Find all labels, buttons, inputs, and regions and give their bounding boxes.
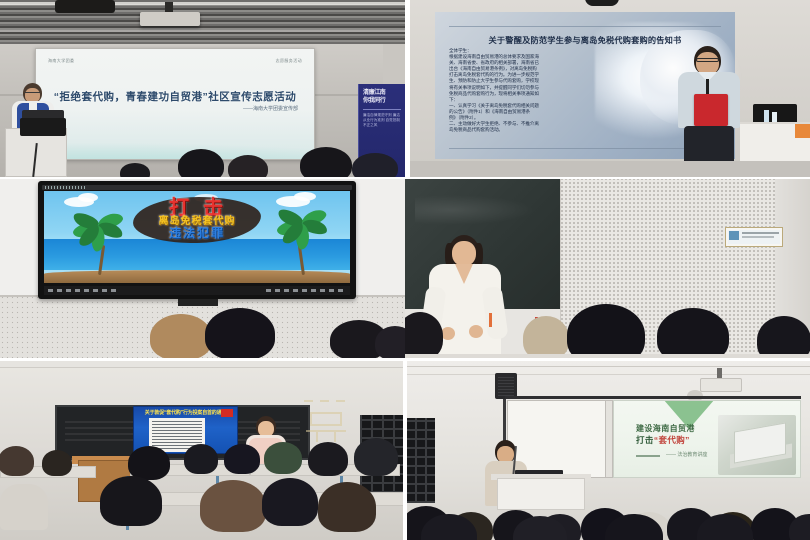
projector-icon bbox=[700, 378, 742, 392]
photo-bottom-right: 建设海南自贸港 打击“套代购” —— 法治教育讲座 bbox=[405, 360, 810, 540]
photo-collage: 海南大学团委 志愿服务活动 “拒绝套代购，青春建功自贸港”社区宣传志愿活动 ——… bbox=[0, 0, 810, 540]
banner-subtitle: 你我同行 bbox=[363, 98, 402, 105]
projection-screen: 建设海南自贸港 打击“套代购” —— 法治教育讲座 bbox=[613, 400, 801, 478]
ceiling-camera-icon bbox=[585, 0, 619, 6]
poster-line-3: 违法犯罪 bbox=[44, 227, 350, 240]
slide-line-2: 打击“套代购” bbox=[636, 434, 690, 446]
marker-pen bbox=[489, 313, 492, 327]
photo-top-right: 关于警醒及防范学生参与离岛免税代购套购的告知书 全体学生： 根据建设海南自由贸易… bbox=[410, 0, 810, 177]
large-display: 打击 离岛免税套代购 违法犯罪 bbox=[38, 181, 356, 299]
male-presenter bbox=[672, 46, 750, 177]
ceiling-fixture bbox=[55, 0, 115, 13]
audience bbox=[405, 478, 810, 540]
photo-top-left: 海南大学团委 志愿服务活动 “拒绝套代购，青春建功自贸港”社区宣传志愿活动 ——… bbox=[0, 0, 405, 177]
display-screen: 打击 离岛免税套代购 违法犯罪 bbox=[44, 191, 350, 283]
photo-middle-left: 打击 离岛免税套代购 违法犯罪 bbox=[0, 177, 405, 360]
collage-seam-vertical bbox=[405, 0, 410, 177]
photo-middle-right bbox=[405, 177, 810, 360]
projector-icon bbox=[140, 12, 200, 26]
notice-line: 岛免税商品代购套购活动。 bbox=[449, 127, 624, 133]
display-control-bar[interactable] bbox=[44, 286, 350, 295]
slide-line-1: 建设海南自贸港 bbox=[636, 423, 695, 434]
audience-heads bbox=[0, 143, 405, 177]
slide-line-2-prefix: 打击 bbox=[636, 435, 654, 445]
slide-title: “拒绝套代购，青春建功自贸港”社区宣传志愿活动 bbox=[36, 89, 314, 104]
slide-line-2-quoted: “套代购” bbox=[654, 435, 690, 445]
red-folder bbox=[694, 94, 728, 126]
slide-byline: —— 法治教育讲座 bbox=[666, 451, 707, 458]
notice-title: 关于警醒及防范学生参与离岛免税代购套购的告知书 bbox=[435, 34, 735, 46]
display-stand bbox=[178, 299, 218, 306]
collage-seam-vertical bbox=[403, 360, 407, 540]
photo-bottom-left: 关于敦促“套代购”行为投案自首的通告 bbox=[0, 360, 405, 540]
chalk-drawing bbox=[300, 398, 360, 448]
wall-sign bbox=[725, 227, 783, 247]
banner-title: 清廉江南 bbox=[363, 90, 402, 97]
poster-title-group: 打击 离岛免税套代购 违法犯罪 bbox=[44, 199, 350, 240]
laptop bbox=[20, 118, 66, 136]
collage-seam-horizontal bbox=[0, 177, 810, 179]
student-seating bbox=[0, 458, 405, 540]
notice-body: 全体学生： 根据建设海南自由贸易港的总体要求及国家海 关、海南省委、省政府的相关… bbox=[449, 48, 624, 133]
red-seal bbox=[221, 409, 233, 417]
slide-subtitle: ——海南大学团委宣传部 bbox=[243, 105, 298, 112]
slide-header-right: 志愿服务活动 bbox=[276, 58, 302, 64]
banner-body: 廉洁自律规范守则 廉洁从业行为准则 自觉抵制不正之风 bbox=[363, 113, 402, 129]
slide-header-left: 海南大学团委 bbox=[48, 58, 74, 64]
